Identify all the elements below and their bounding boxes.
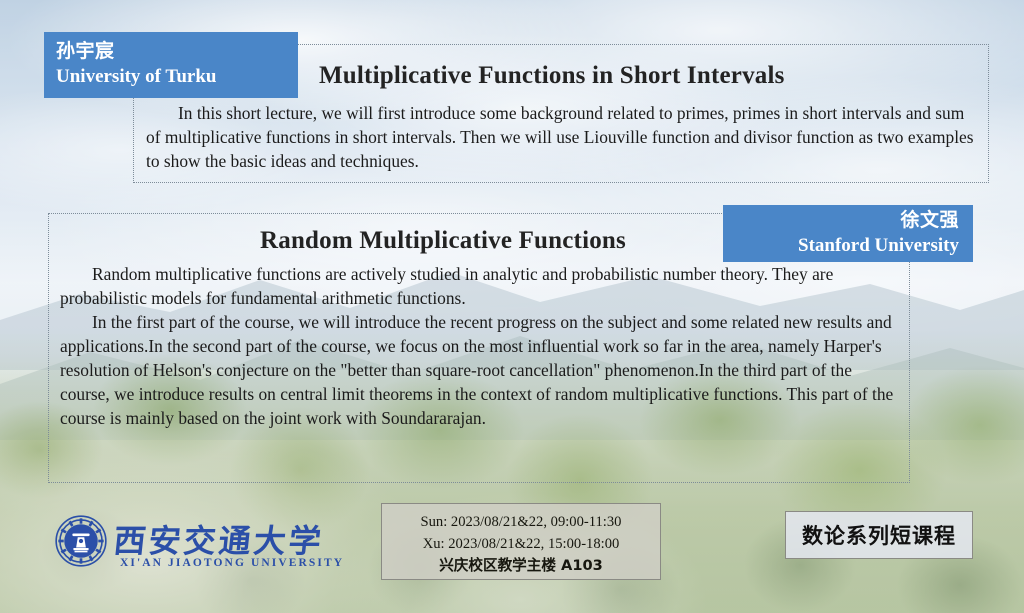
speaker-name-2: 徐文强	[723, 208, 959, 233]
speaker-affiliation-1: University of Turku	[56, 64, 298, 90]
university-name-en: XI'AN JIAOTONG UNIVERSITY	[120, 557, 344, 569]
abstract-paragraph: In this short lecture, we will first int…	[146, 101, 978, 173]
university-name-cn: 西安交通大学	[112, 516, 327, 562]
university-logo: 西安交通大学 XI'AN JIAOTONG UNIVERSITY	[48, 510, 304, 576]
gear-emblem-icon	[54, 514, 108, 568]
series-badge-label: 数论系列短课程	[802, 520, 956, 550]
speaker-card-2: 徐文强 Stanford University	[723, 205, 973, 262]
speaker-affiliation-2: Stanford University	[723, 233, 959, 259]
talk-title-1: Multiplicative Functions in Short Interv…	[319, 62, 785, 90]
speaker-card-1: 孙宇宸 University of Turku	[44, 32, 298, 98]
schedule-box: Sun: 2023/08/21&22, 09:00-11:30 Xu: 2023…	[381, 503, 661, 580]
talk-abstract-2: Random multiplicative functions are acti…	[60, 262, 902, 430]
schedule-line-sun: Sun: 2023/08/21&22, 09:00-11:30	[382, 511, 660, 533]
speaker-name-1: 孙宇宸	[56, 39, 298, 64]
poster-content: 孙宇宸 University of Turku Multiplicative F…	[0, 0, 1024, 613]
lecture-poster: 孙宇宸 University of Turku Multiplicative F…	[0, 0, 1024, 613]
schedule-line-xu: Xu: 2023/08/21&22, 15:00-18:00	[382, 533, 660, 555]
abstract-paragraph: In the first part of the course, we will…	[60, 310, 902, 430]
schedule-venue: 兴庆校区教学主楼 A103	[382, 555, 660, 577]
abstract-paragraph: Random multiplicative functions are acti…	[60, 262, 902, 310]
series-badge: 数论系列短课程	[785, 511, 973, 559]
talk-abstract-1: In this short lecture, we will first int…	[146, 101, 978, 173]
talk-title-2: Random Multiplicative Functions	[260, 227, 626, 255]
